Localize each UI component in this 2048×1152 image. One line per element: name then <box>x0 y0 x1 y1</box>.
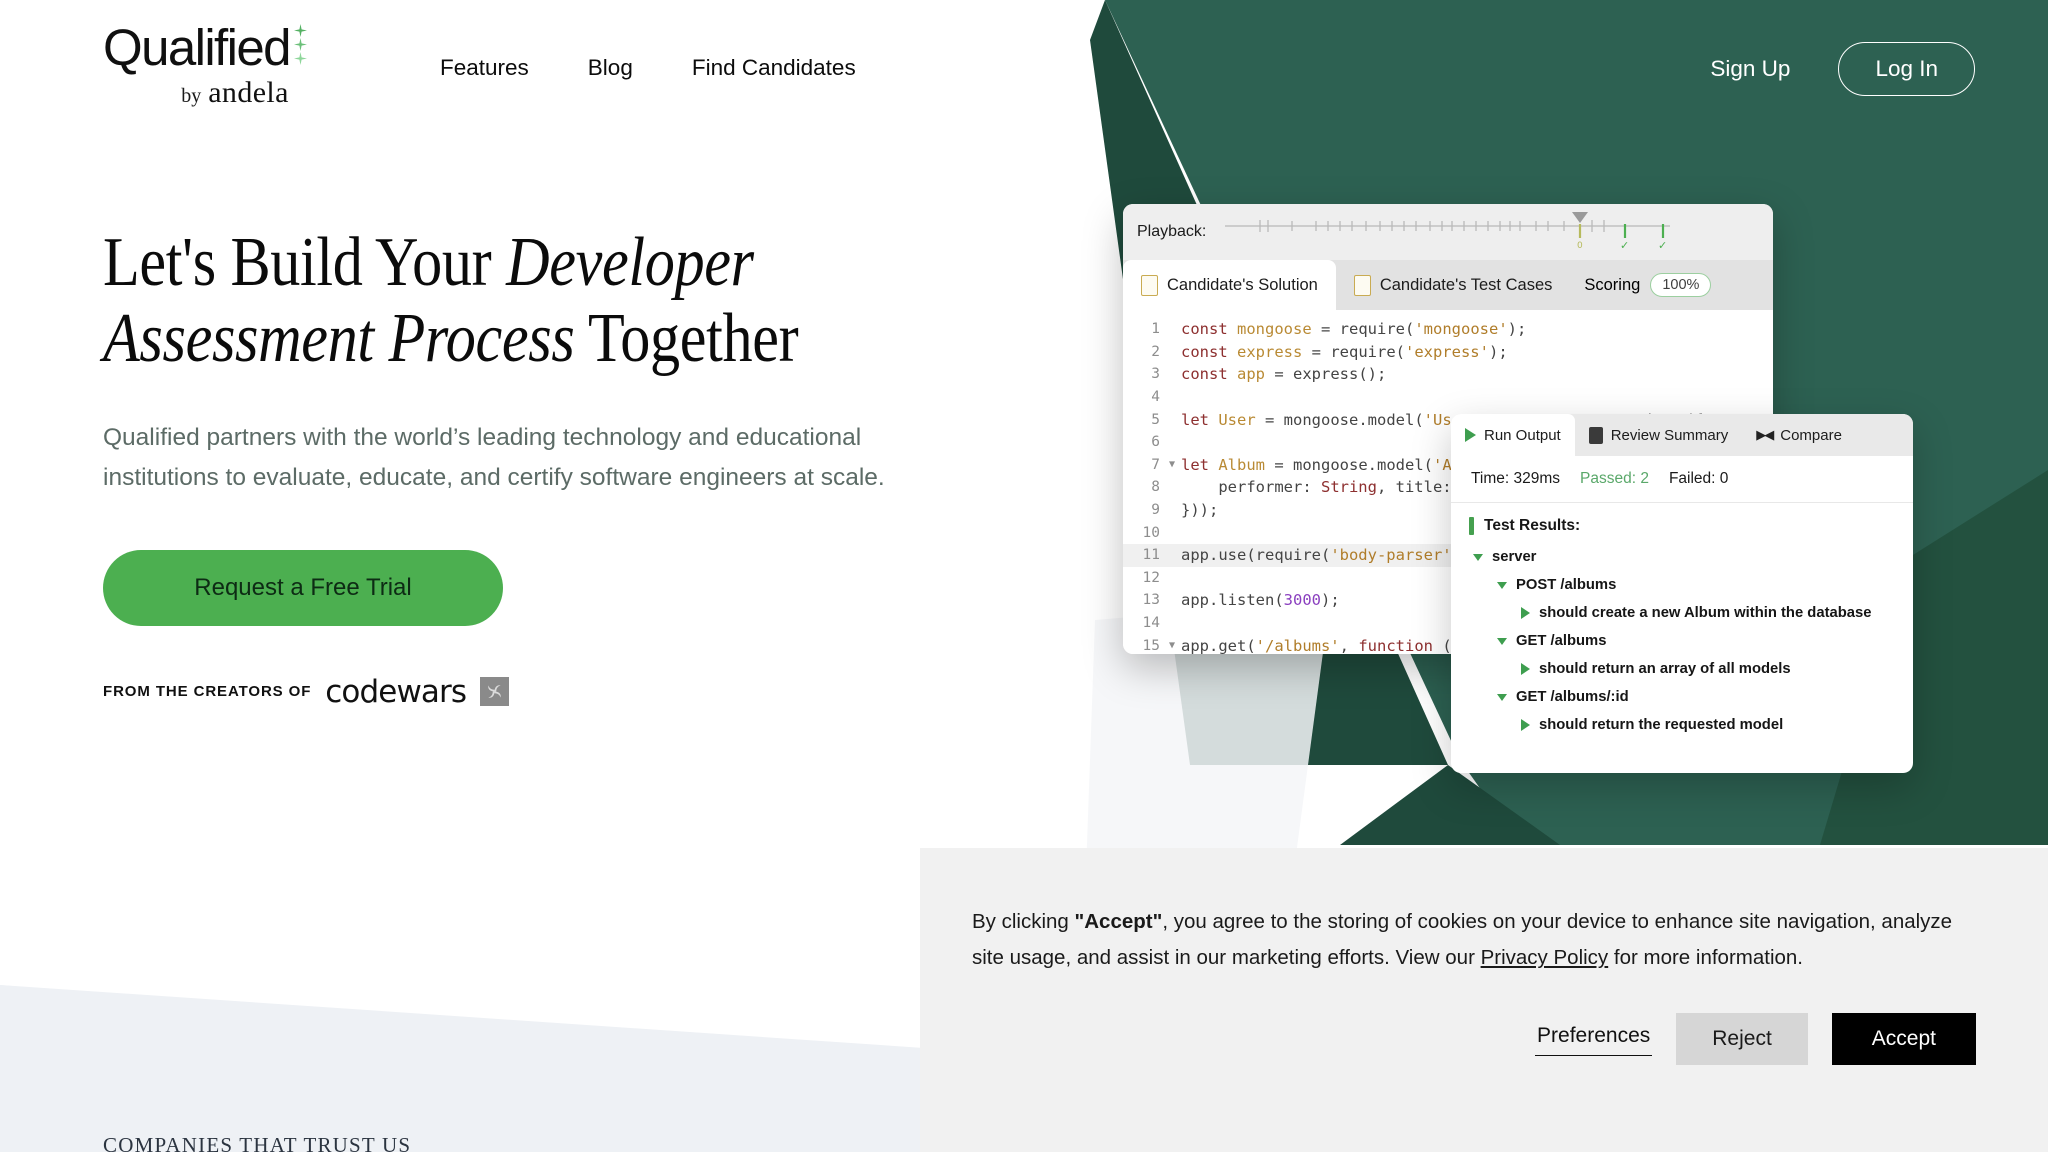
line-number: 9 <box>1123 502 1169 518</box>
tab-compare[interactable]: ▶◀ Compare <box>1742 414 1856 456</box>
line-number: 2 <box>1123 344 1169 360</box>
line-number: 14 <box>1123 615 1169 631</box>
page-title: Let's Build Your Developer Assessment Pr… <box>103 225 877 376</box>
hero-title-line1-plain: Let's Build Your <box>103 224 506 301</box>
test-tree-label: server <box>1492 549 1536 565</box>
test-tree-row[interactable]: should return an array of all models <box>1521 655 1913 683</box>
test-tree-row[interactable]: GET /albums/:id <box>1497 683 1913 711</box>
logo-wordmark-row: Qualified <box>103 22 307 73</box>
fold-toggle-icon[interactable]: ▼ <box>1169 459 1181 470</box>
hero-subtitle: Qualified partners with the world’s lead… <box>103 418 893 497</box>
test-tree-label: should create a new Album within the dat… <box>1539 605 1871 621</box>
triangle-right-icon[interactable] <box>1521 663 1530 675</box>
compare-icon: ▶◀ <box>1756 427 1772 443</box>
test-results-heading: Test Results: <box>1451 503 1913 541</box>
code-text: const express = require('express'); <box>1181 343 1508 361</box>
creators-label: FROM THE CREATORS OF <box>103 683 311 700</box>
test-results-tree: serverPOST /albumsshould create a new Al… <box>1451 541 1913 739</box>
tab-candidates-test-cases-label: Candidate's Test Cases <box>1380 276 1553 295</box>
cookie-text-part3: for more information. <box>1608 946 1803 969</box>
scoring-indicator[interactable]: Scoring 100% <box>1570 260 1725 310</box>
playback-bar: Playback: <box>1123 204 1773 260</box>
code-text: app.use(require('body-parser').js <box>1181 546 1489 564</box>
tab-run-output[interactable]: Run Output <box>1451 414 1575 456</box>
tab-candidates-solution-label: Candidate's Solution <box>1167 276 1318 295</box>
nav-link-find-candidates[interactable]: Find Candidates <box>692 55 856 81</box>
test-tree-row[interactable]: should create a new Album within the dat… <box>1521 599 1913 627</box>
hero-title-line2-italic: Assessment Process <box>103 300 574 377</box>
scoring-label: Scoring <box>1584 276 1640 295</box>
code-line: 2const express = require('express'); <box>1123 341 1773 364</box>
cookie-accept-emphasis: "Accept" <box>1075 910 1163 933</box>
code-text: app.listen(3000); <box>1181 591 1340 609</box>
playback-timeline[interactable]: 0 ✓ ✓ <box>1220 212 1759 252</box>
log-in-button[interactable]: Log In <box>1838 42 1975 96</box>
test-tree-label: POST /albums <box>1516 577 1616 593</box>
test-tree-row[interactable]: POST /albums <box>1497 571 1913 599</box>
code-text: })); <box>1181 501 1218 519</box>
test-tree-row[interactable]: should return the requested model <box>1521 711 1913 739</box>
stat-passed: Passed: 2 <box>1580 470 1649 488</box>
codewars-pinwheel-icon <box>480 677 509 706</box>
svg-text:0: 0 <box>1577 241 1583 251</box>
test-tree-label: GET /albums/:id <box>1516 689 1629 705</box>
logo-by-text: by <box>181 85 201 108</box>
line-number: 4 <box>1123 389 1169 405</box>
score-badge: 100% <box>1650 273 1711 297</box>
triangle-down-icon[interactable] <box>1473 554 1483 561</box>
status-bar-icon <box>1469 517 1474 535</box>
code-line: 4 <box>1123 386 1773 409</box>
creators-credit: FROM THE CREATORS OF codewars <box>103 674 1003 710</box>
tab-compare-label: Compare <box>1780 427 1842 444</box>
tab-review-summary-label: Review Summary <box>1611 427 1729 444</box>
preferences-button[interactable]: Preferences <box>1535 1022 1652 1056</box>
triangle-right-icon[interactable] <box>1521 607 1530 619</box>
line-number: 1 <box>1123 321 1169 337</box>
triangle-down-icon[interactable] <box>1497 694 1507 701</box>
svg-text:✓: ✓ <box>1658 239 1667 252</box>
tab-review-summary[interactable]: Review Summary <box>1575 414 1743 456</box>
test-tree-label: should return an array of all models <box>1539 661 1791 677</box>
sign-up-link[interactable]: Sign Up <box>1710 56 1790 82</box>
stat-failed: Failed: 0 <box>1669 470 1728 488</box>
fold-toggle-icon[interactable]: ▼ <box>1169 640 1181 651</box>
header-actions: Sign Up Log In <box>1710 42 1975 96</box>
run-output-panel: Run Output Review Summary ▶◀ Compare Tim… <box>1451 414 1913 773</box>
companies-trust-heading: COMPANIES THAT TRUST US <box>103 1133 411 1152</box>
editor-tabs: Candidate's Solution Candidate's Test Ca… <box>1123 260 1773 310</box>
tab-candidates-test-cases[interactable]: Candidate's Test Cases <box>1336 260 1571 310</box>
test-tree-row[interactable]: server <box>1473 543 1913 571</box>
hero-title-line1-italic: Developer <box>506 224 754 301</box>
code-line: 3const app = express(); <box>1123 363 1773 386</box>
brand-logo[interactable]: Qualified by andela <box>103 22 307 110</box>
hero-section: Let's Build Your Developer Assessment Pr… <box>103 225 1003 710</box>
test-results-label: Test Results: <box>1484 517 1580 535</box>
accept-button[interactable]: Accept <box>1832 1013 1976 1065</box>
sparkle-icon <box>294 24 307 65</box>
triangle-right-icon[interactable] <box>1521 719 1530 731</box>
line-number: 11 <box>1123 547 1169 563</box>
primary-navigation: Features Blog Find Candidates <box>440 55 856 81</box>
line-number: 13 <box>1123 592 1169 608</box>
playback-timeline-svg: 0 ✓ ✓ <box>1220 212 1670 252</box>
logo-wordmark: Qualified <box>103 22 290 73</box>
code-line: 1const mongoose = require('mongoose'); <box>1123 318 1773 341</box>
line-number: 5 <box>1123 412 1169 428</box>
line-number: 3 <box>1123 366 1169 382</box>
privacy-policy-link[interactable]: Privacy Policy <box>1481 946 1609 969</box>
run-statistics: Time: 329ms Passed: 2 Failed: 0 <box>1451 456 1913 503</box>
test-tree-row[interactable]: GET /albums <box>1497 627 1913 655</box>
cookie-actions: Preferences Reject Accept <box>972 1013 1976 1065</box>
clipboard-icon <box>1589 427 1603 444</box>
test-tree-label: GET /albums <box>1516 633 1606 649</box>
hero-title-line2-plain: Together <box>574 300 798 377</box>
logo-byline: by andela <box>181 76 289 110</box>
code-text: const mongoose = require('mongoose'); <box>1181 320 1526 338</box>
triangle-down-icon[interactable] <box>1497 582 1507 589</box>
stat-time: Time: 329ms <box>1471 470 1560 488</box>
line-number: 10 <box>1123 525 1169 541</box>
line-number: 12 <box>1123 570 1169 586</box>
nav-link-blog[interactable]: Blog <box>588 55 633 81</box>
svg-text:✓: ✓ <box>1620 239 1629 252</box>
cookie-text-part1: By clicking <box>972 910 1075 933</box>
code-text: app.get('/albums', function (req, <box>1181 637 1489 654</box>
cookie-consent-banner: By clicking "Accept", you agree to the s… <box>920 848 2048 1152</box>
codewars-wordmark: codewars <box>325 674 466 710</box>
play-icon <box>1465 428 1476 442</box>
tab-candidates-solution[interactable]: Candidate's Solution <box>1123 260 1336 310</box>
line-number: 8 <box>1123 479 1169 495</box>
document-icon <box>1354 275 1371 296</box>
cookie-consent-text: By clicking "Accept", you agree to the s… <box>972 904 1976 977</box>
logo-andela-text: andela <box>208 76 289 110</box>
request-free-trial-button[interactable]: Request a Free Trial <box>103 550 503 626</box>
site-header: Qualified by andela Features Blog Find C… <box>0 0 2048 150</box>
line-number: 15 <box>1123 638 1169 654</box>
line-number: 6 <box>1123 434 1169 450</box>
playback-label: Playback: <box>1137 223 1206 241</box>
test-tree-label: should return the requested model <box>1539 717 1783 733</box>
document-icon <box>1141 275 1158 296</box>
code-text: const app = express(); <box>1181 365 1386 383</box>
run-output-tabs: Run Output Review Summary ▶◀ Compare <box>1451 414 1913 456</box>
tab-run-output-label: Run Output <box>1484 427 1561 444</box>
nav-link-features[interactable]: Features <box>440 55 529 81</box>
reject-button[interactable]: Reject <box>1676 1013 1808 1065</box>
line-number: 7 <box>1123 457 1169 473</box>
triangle-down-icon[interactable] <box>1497 638 1507 645</box>
